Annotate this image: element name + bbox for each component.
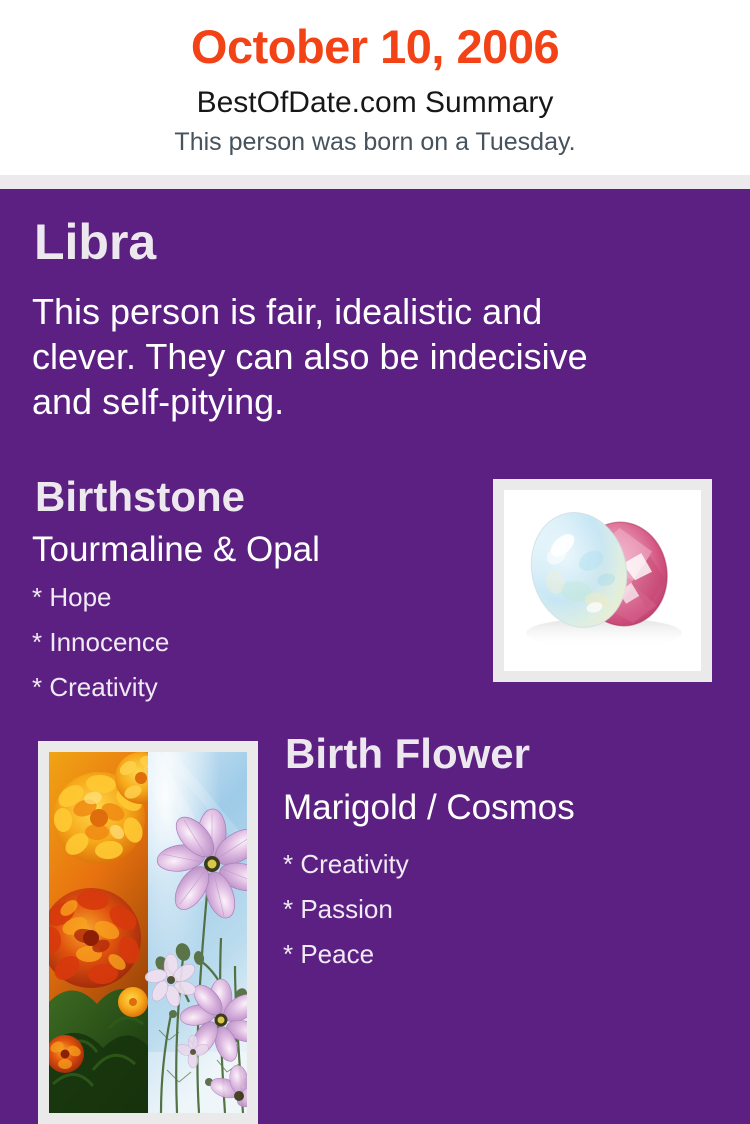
flower-illustration xyxy=(49,752,247,1113)
birthstone-photo-frame xyxy=(493,479,712,682)
birthstone-heading: Birthstone xyxy=(35,476,245,518)
list-item: * Innocence xyxy=(32,629,452,655)
list-item: * Creativity xyxy=(283,851,713,877)
birthstone-value: Tourmaline & Opal xyxy=(32,532,320,567)
list-item: * Creativity xyxy=(32,674,452,700)
birthflower-value: Marigold / Cosmos xyxy=(283,790,575,825)
gemstone-illustration xyxy=(504,490,701,671)
infographic-page: October 10, 2006 BestOfDate.com Summary … xyxy=(0,0,750,1000)
list-item: * Passion xyxy=(283,896,713,922)
list-item: * Peace xyxy=(283,941,713,967)
birthflower-trait-list: * Creativity * Passion * Peace xyxy=(283,851,713,986)
birthstone-trait-list: * Hope * Innocence * Creativity xyxy=(32,584,452,719)
header-divider xyxy=(0,175,750,189)
zodiac-description: This person is fair, idealistic and clev… xyxy=(32,289,632,424)
list-item: * Hope xyxy=(32,584,452,610)
site-subtitle: BestOfDate.com Summary xyxy=(0,86,750,119)
birthflower-photo-frame xyxy=(38,741,258,1124)
born-weekday-text: This person was born on a Tuesday. xyxy=(0,129,750,157)
birthflower-photo xyxy=(49,752,247,1113)
page-title-date: October 10, 2006 xyxy=(0,22,750,71)
header-banner: October 10, 2006 BestOfDate.com Summary … xyxy=(0,0,750,175)
zodiac-sign-name: Libra xyxy=(34,217,156,267)
main-content: Libra This person is fair, idealistic an… xyxy=(0,189,750,1000)
birthflower-heading: Birth Flower xyxy=(285,733,530,775)
birthstone-photo xyxy=(504,490,701,671)
